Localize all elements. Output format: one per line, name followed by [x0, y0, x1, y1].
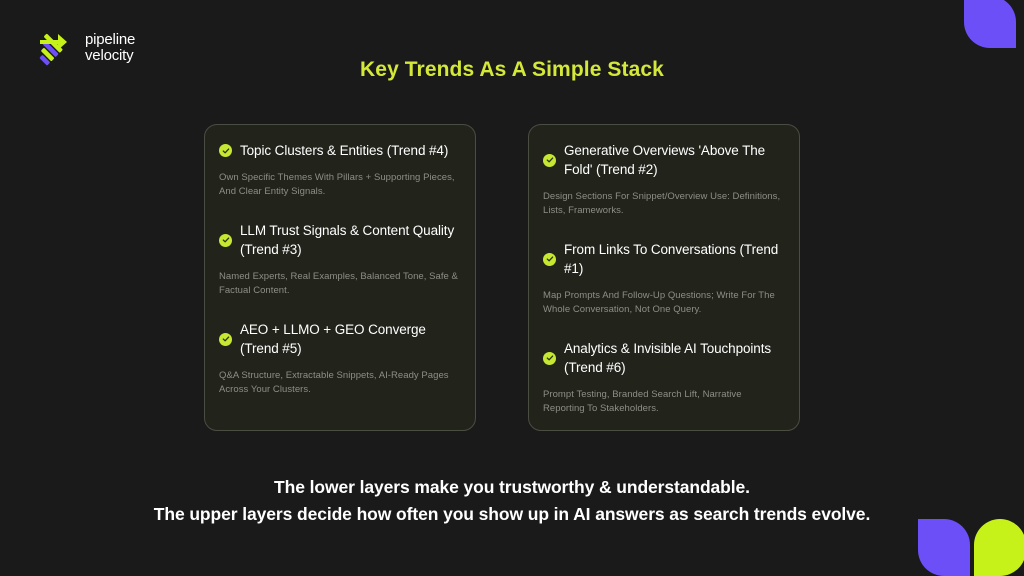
trend-item-description: Map Prompts And Follow-Up Questions; Wri… [543, 289, 785, 317]
trend-item-title: Generative Overviews 'Above The Fold' (T… [564, 141, 785, 179]
trend-item-description: Named Experts, Real Examples, Balanced T… [219, 270, 461, 298]
trend-item-title: Analytics & Invisible AI Touchpoints (Tr… [564, 339, 785, 377]
trend-item: Topic Clusters & Entities (Trend #4) Own… [219, 141, 461, 199]
summary-caption: The lower layers make you trustworthy & … [0, 474, 1024, 528]
trend-item-description: Q&A Structure, Extractable Snippets, AI-… [219, 369, 461, 397]
leaf-shape-top-right-icon [964, 0, 1016, 48]
summary-caption-line2: The upper layers decide how often you sh… [0, 501, 1024, 528]
trend-item-head: LLM Trust Signals & Content Quality (Tre… [219, 221, 461, 259]
trend-item-title: LLM Trust Signals & Content Quality (Tre… [240, 221, 461, 259]
trend-item-head: AEO + LLMO + GEO Converge (Trend #5) [219, 320, 461, 358]
summary-caption-line1: The lower layers make you trustworthy & … [0, 474, 1024, 501]
trend-item-title: From Links To Conversations (Trend #1) [564, 240, 785, 278]
trend-item: From Links To Conversations (Trend #1) M… [543, 240, 785, 317]
trend-item-description: Prompt Testing, Branded Search Lift, Nar… [543, 388, 785, 416]
check-circle-icon [219, 144, 232, 157]
brand-name-line1: pipeline [85, 32, 135, 48]
check-circle-icon [219, 234, 232, 247]
trend-item-description: Design Sections For Snippet/Overview Use… [543, 190, 785, 218]
check-circle-icon [543, 154, 556, 167]
trend-item-head: Topic Clusters & Entities (Trend #4) [219, 141, 461, 160]
page-title: Key Trends As A Simple Stack [0, 58, 1024, 82]
trend-columns: Topic Clusters & Entities (Trend #4) Own… [204, 124, 820, 431]
check-circle-icon [543, 352, 556, 365]
right-column-card: Generative Overviews 'Above The Fold' (T… [528, 124, 800, 431]
trend-item: AEO + LLMO + GEO Converge (Trend #5) Q&A… [219, 320, 461, 397]
trend-item-title: Topic Clusters & Entities (Trend #4) [240, 141, 448, 160]
check-circle-icon [219, 333, 232, 346]
left-column-card: Topic Clusters & Entities (Trend #4) Own… [204, 124, 476, 431]
trend-item-head: From Links To Conversations (Trend #1) [543, 240, 785, 278]
trend-item-head: Generative Overviews 'Above The Fold' (T… [543, 141, 785, 179]
check-circle-icon [543, 253, 556, 266]
trend-item-title: AEO + LLMO + GEO Converge (Trend #5) [240, 320, 461, 358]
trend-item-description: Own Specific Themes With Pillars + Suppo… [219, 171, 461, 199]
trend-item: Analytics & Invisible AI Touchpoints (Tr… [543, 339, 785, 416]
trend-item: LLM Trust Signals & Content Quality (Tre… [219, 221, 461, 298]
trend-item-head: Analytics & Invisible AI Touchpoints (Tr… [543, 339, 785, 377]
trend-item: Generative Overviews 'Above The Fold' (T… [543, 141, 785, 218]
